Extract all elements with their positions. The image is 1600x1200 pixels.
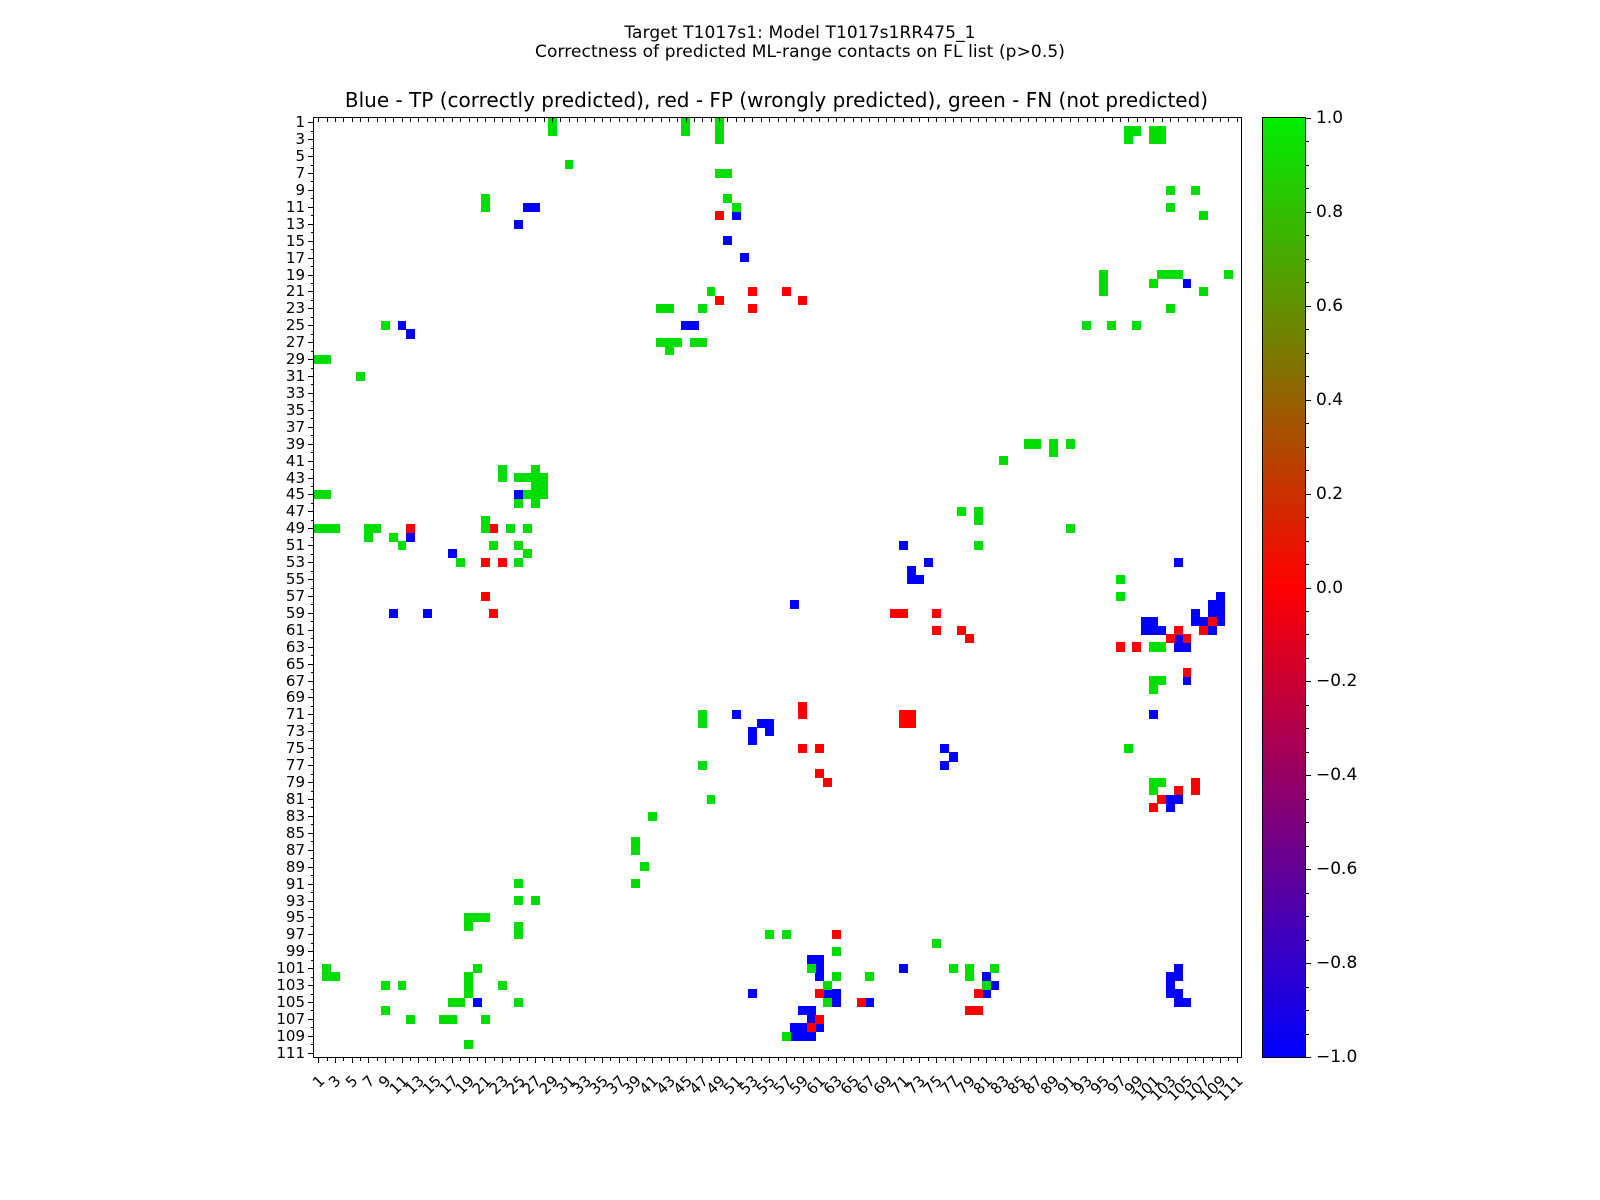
x-minor-tick	[794, 1057, 795, 1061]
axes-title-legend: Blue - TP (correctly predicted), red - F…	[313, 88, 1240, 112]
colorbar[interactable]: 1.00.80.60.40.20.0−0.2−0.4−0.6−0.8−1.0	[1262, 117, 1306, 1058]
y-minor-tick	[311, 351, 315, 352]
x-minor-tick	[1237, 1057, 1238, 1061]
colorbar-minor-tick	[1305, 775, 1309, 776]
x-top-minor-tick	[894, 118, 895, 122]
y-minor-tick	[311, 291, 315, 292]
contact-cell-tp	[982, 989, 991, 998]
contact-cell-fp	[815, 1015, 824, 1024]
y-minor-tick	[311, 520, 315, 521]
x-minor-tick	[961, 1057, 962, 1061]
contact-cell-tp	[865, 998, 874, 1007]
x-minor-tick	[1078, 1057, 1079, 1061]
y-minor-tick	[311, 173, 315, 174]
y-tick-label: 55	[286, 570, 305, 588]
y-minor-tick	[311, 571, 315, 572]
contact-cell-fn	[322, 490, 331, 499]
x-top-minor-tick	[794, 118, 795, 122]
y-minor-tick	[311, 621, 315, 622]
contact-cell-tp	[765, 727, 774, 736]
y-minor-tick	[311, 478, 315, 479]
colorbar-minor-tick	[1305, 987, 1309, 988]
colorbar-minor-tick	[1305, 165, 1309, 166]
x-top-minor-tick	[652, 118, 653, 122]
colorbar-minor-tick	[1305, 306, 1309, 307]
y-tick-label: 17	[286, 249, 305, 267]
contact-cell-fn	[865, 972, 874, 981]
y-minor-tick	[311, 308, 315, 309]
x-top-minor-tick	[919, 118, 920, 122]
colorbar-minor-tick	[1305, 376, 1309, 377]
colorbar-minor-tick	[1305, 658, 1309, 659]
contact-cell-fn	[1149, 786, 1158, 795]
contact-cell-tp	[899, 541, 908, 550]
contact-cell-fp	[489, 609, 498, 618]
y-tick-label: 81	[286, 790, 305, 808]
contact-cell-tp	[1183, 279, 1192, 288]
y-tick-label: 79	[286, 773, 305, 791]
x-minor-tick	[727, 1057, 728, 1061]
y-minor-tick	[311, 723, 315, 724]
x-minor-tick	[878, 1057, 879, 1061]
contact-cell-tp	[732, 710, 741, 719]
x-top-minor-tick	[819, 118, 820, 122]
y-minor-tick	[311, 156, 315, 157]
x-top-minor-tick	[694, 118, 695, 122]
x-minor-tick	[1095, 1057, 1096, 1061]
contact-cell-tp	[423, 609, 432, 618]
y-tick-label: 101	[276, 959, 305, 977]
x-minor-tick	[986, 1057, 987, 1061]
y-tick-label: 73	[286, 722, 305, 740]
colorbar-minor-tick	[1305, 447, 1309, 448]
y-tick-label: 13	[286, 215, 305, 233]
contact-cell-fn	[456, 998, 465, 1007]
y-tick-label: 23	[286, 299, 305, 317]
x-top-minor-tick	[978, 118, 979, 122]
contact-cell-fn	[381, 981, 390, 990]
contact-cell-fn	[707, 287, 716, 296]
x-top-minor-tick	[460, 118, 461, 122]
y-minor-tick	[311, 444, 315, 445]
x-minor-tick	[594, 1057, 595, 1061]
x-top-minor-tick	[936, 118, 937, 122]
y-minor-tick	[311, 232, 315, 233]
y-minor-tick	[311, 774, 315, 775]
contact-cell-tp	[473, 998, 482, 1007]
contact-cell-fn	[1199, 211, 1208, 220]
contact-cell-fp	[1208, 617, 1217, 626]
x-top-minor-tick	[452, 118, 453, 122]
colorbar-minor-tick	[1305, 705, 1309, 706]
contact-cell-fn	[481, 1015, 490, 1024]
contact-cell-fn	[514, 499, 523, 508]
contact-cell-fn	[1166, 203, 1175, 212]
contact-cell-tp	[815, 1023, 824, 1032]
contact-cell-fp	[974, 989, 983, 998]
contact-cell-fn	[648, 812, 657, 821]
x-minor-tick	[803, 1057, 804, 1061]
y-tick-label: 21	[286, 282, 305, 300]
contact-cell-tp	[1149, 710, 1158, 719]
contact-cell-fn	[715, 135, 724, 144]
x-top-minor-tick	[811, 118, 812, 122]
contact-cell-fn	[498, 473, 507, 482]
x-top-minor-tick	[1228, 118, 1229, 122]
x-minor-tick	[552, 1057, 553, 1061]
x-minor-tick	[995, 1057, 996, 1061]
y-tick-label: 103	[276, 976, 305, 994]
y-tick-label: 25	[286, 316, 305, 334]
y-minor-tick	[311, 1036, 315, 1037]
y-minor-tick	[311, 655, 315, 656]
x-minor-tick	[1203, 1057, 1204, 1061]
contact-cell-fn	[974, 541, 983, 550]
y-tick-label: 51	[286, 536, 305, 554]
colorbar-tick-label: −0.4	[1316, 765, 1357, 785]
x-minor-tick	[761, 1057, 762, 1061]
y-minor-tick	[311, 275, 315, 276]
x-top-minor-tick	[786, 118, 787, 122]
x-top-minor-tick	[1162, 118, 1163, 122]
y-tick-label: 29	[286, 350, 305, 368]
contact-cell-fp	[1157, 795, 1166, 804]
contact-cell-fn	[406, 1015, 415, 1024]
y-minor-tick	[311, 207, 315, 208]
contact-cell-fn	[356, 372, 365, 381]
contact-cell-tp	[1174, 795, 1183, 804]
y-minor-tick	[311, 1010, 315, 1011]
colorbar-tick-label: 0.6	[1316, 296, 1343, 316]
y-minor-tick	[311, 850, 315, 851]
x-top-minor-tick	[1003, 118, 1004, 122]
x-top-minor-tick	[686, 118, 687, 122]
x-top-minor-tick	[961, 118, 962, 122]
colorbar-minor-tick	[1305, 517, 1309, 518]
contact-cell-fp	[481, 592, 490, 601]
x-minor-tick	[585, 1057, 586, 1061]
y-minor-tick	[311, 122, 315, 123]
x-minor-tick	[410, 1057, 411, 1061]
x-top-minor-tick	[435, 118, 436, 122]
contact-cell-fn	[698, 338, 707, 347]
x-top-minor-tick	[1212, 118, 1213, 122]
y-minor-tick	[311, 604, 315, 605]
contact-cell-fn	[322, 355, 331, 364]
x-top-minor-tick	[585, 118, 586, 122]
contact-cell-fp	[1116, 642, 1125, 651]
y-minor-tick	[311, 943, 315, 944]
x-minor-tick	[778, 1057, 779, 1061]
y-minor-tick	[311, 148, 315, 149]
contact-cell-fn	[539, 490, 548, 499]
contact-cell-fn	[832, 972, 841, 981]
x-minor-tick	[636, 1057, 637, 1061]
contact-cell-fn	[398, 981, 407, 990]
contact-cell-fn	[514, 930, 523, 939]
contact-cell-fp	[406, 524, 415, 533]
x-top-minor-tick	[1078, 118, 1079, 122]
contact-cell-tp	[690, 321, 699, 330]
contact-cell-fn	[707, 795, 716, 804]
contact-cell-fn	[1066, 524, 1075, 533]
colorbar-tick-label: −1.0	[1316, 1047, 1357, 1067]
y-minor-tick	[311, 376, 315, 377]
x-minor-tick	[1195, 1057, 1196, 1061]
contact-cell-fn	[990, 964, 999, 973]
x-top-minor-tick	[602, 118, 603, 122]
contact-cell-tp	[915, 575, 924, 584]
x-top-minor-tick	[702, 118, 703, 122]
contact-cell-tp	[1183, 676, 1192, 685]
x-top-minor-tick	[1145, 118, 1146, 122]
colorbar-minor-tick	[1305, 259, 1309, 260]
contact-cell-fp	[798, 744, 807, 753]
y-tick-label: 3	[295, 130, 305, 148]
contact-cell-tp	[899, 964, 908, 973]
y-tick-label: 7	[295, 164, 305, 182]
contact-cell-fn	[1116, 575, 1125, 584]
colorbar-minor-tick	[1305, 141, 1309, 142]
x-minor-tick	[1070, 1057, 1071, 1061]
y-minor-tick	[311, 807, 315, 808]
colorbar-minor-tick	[1305, 728, 1309, 729]
x-minor-tick	[1220, 1057, 1221, 1061]
x-minor-tick	[1153, 1057, 1154, 1061]
x-top-minor-tick	[569, 118, 570, 122]
contact-cell-tp	[1216, 617, 1225, 626]
contact-cell-tp	[723, 236, 732, 245]
contact-cell-fn	[473, 964, 482, 973]
x-top-minor-tick	[886, 118, 887, 122]
x-top-minor-tick	[970, 118, 971, 122]
x-top-minor-tick	[836, 118, 837, 122]
y-minor-tick	[311, 528, 315, 529]
contact-cell-fn	[698, 719, 707, 728]
colorbar-minor-tick	[1305, 611, 1309, 612]
contact-cell-fn	[698, 304, 707, 313]
x-top-minor-tick	[945, 118, 946, 122]
contact-cell-fn	[331, 524, 340, 533]
y-minor-tick	[311, 181, 315, 182]
contact-cell-fn	[448, 1015, 457, 1024]
x-minor-tick	[1028, 1057, 1029, 1061]
x-minor-tick	[911, 1057, 912, 1061]
contact-cell-fn	[1174, 270, 1183, 279]
y-minor-tick	[311, 368, 315, 369]
colorbar-tick-label: −0.8	[1316, 953, 1357, 973]
y-tick-label: 37	[286, 418, 305, 436]
y-minor-tick	[311, 765, 315, 766]
x-minor-tick	[385, 1057, 386, 1061]
contact-cell-fp	[974, 1006, 983, 1015]
y-tick-label: 65	[286, 655, 305, 673]
x-top-minor-tick	[736, 118, 737, 122]
x-top-minor-tick	[552, 118, 553, 122]
x-top-minor-tick	[469, 118, 470, 122]
contact-cell-tp	[790, 600, 799, 609]
x-top-minor-tick	[853, 118, 854, 122]
y-minor-tick	[311, 258, 315, 259]
x-top-minor-tick	[427, 118, 428, 122]
x-minor-tick	[1170, 1057, 1171, 1061]
x-minor-tick	[811, 1057, 812, 1061]
contact-cell-fn	[1191, 186, 1200, 195]
contact-cell-fn	[531, 499, 540, 508]
y-minor-tick	[311, 384, 315, 385]
contact-map-cells	[314, 118, 1241, 1057]
y-minor-tick	[311, 951, 315, 952]
contact-cell-tp	[748, 736, 757, 745]
y-tick-label: 19	[286, 266, 305, 284]
x-minor-tick	[494, 1057, 495, 1061]
y-minor-tick	[311, 410, 315, 411]
x-top-minor-tick	[494, 118, 495, 122]
y-minor-tick	[311, 824, 315, 825]
x-top-minor-tick	[1095, 118, 1096, 122]
colorbar-minor-tick	[1305, 470, 1309, 471]
contact-cell-fn	[782, 930, 791, 939]
x-minor-tick	[377, 1057, 378, 1061]
y-tick-label: 9	[295, 181, 305, 199]
y-minor-tick	[311, 697, 315, 698]
colorbar-minor-tick	[1305, 588, 1309, 589]
x-top-minor-tick	[761, 118, 762, 122]
contact-cell-fp	[1191, 786, 1200, 795]
contact-cell-fn	[1224, 270, 1233, 279]
colorbar-gradient	[1263, 118, 1305, 1057]
contact-cell-fp	[782, 287, 791, 296]
y-tick-label: 87	[286, 841, 305, 859]
y-minor-tick	[311, 748, 315, 749]
x-minor-tick	[736, 1057, 737, 1061]
contact-cell-fp	[748, 304, 757, 313]
y-minor-tick	[311, 968, 315, 969]
x-minor-tick	[1187, 1057, 1188, 1061]
x-top-minor-tick	[627, 118, 628, 122]
y-minor-tick	[311, 960, 315, 961]
y-minor-tick	[311, 562, 315, 563]
y-minor-tick	[311, 841, 315, 842]
contact-cell-fn	[982, 981, 991, 990]
x-top-minor-tick	[360, 118, 361, 122]
contact-cell-fn	[456, 558, 465, 567]
y-minor-tick	[311, 1053, 315, 1054]
x-top-minor-tick	[352, 118, 353, 122]
contact-cell-fn	[464, 989, 473, 998]
contact-cell-tp	[990, 981, 999, 990]
x-minor-tick	[485, 1057, 486, 1061]
y-minor-tick	[311, 791, 315, 792]
x-minor-tick	[819, 1057, 820, 1061]
y-minor-tick	[311, 799, 315, 800]
x-minor-tick	[894, 1057, 895, 1061]
contact-cell-fn	[381, 1006, 390, 1015]
colorbar-tick-label: −0.2	[1316, 671, 1357, 691]
contact-cell-fp	[1149, 803, 1158, 812]
x-top-minor-tick	[661, 118, 662, 122]
y-minor-tick	[311, 1002, 315, 1003]
y-minor-tick	[311, 867, 315, 868]
x-top-minor-tick	[719, 118, 720, 122]
y-tick-label: 91	[286, 875, 305, 893]
contact-cell-fn	[681, 126, 690, 135]
contact-cell-fn	[1132, 321, 1141, 330]
y-tick-label: 97	[286, 925, 305, 943]
contact-cell-fp	[715, 296, 724, 305]
y-tick-label: 57	[286, 587, 305, 605]
y-tick-label: 53	[286, 553, 305, 571]
y-minor-tick	[311, 681, 315, 682]
contact-cell-fn	[481, 203, 490, 212]
y-minor-tick	[311, 909, 315, 910]
y-minor-tick	[311, 833, 315, 834]
x-minor-tick	[318, 1057, 319, 1061]
y-minor-tick	[311, 892, 315, 893]
contact-cell-fn	[1082, 321, 1091, 330]
contact-map-plot[interactable]: 1357911131517192123252729313335373941434…	[313, 117, 1242, 1058]
x-top-minor-tick	[644, 118, 645, 122]
contact-cell-fn	[1157, 135, 1166, 144]
contact-cell-fn	[506, 524, 515, 533]
contact-cell-tp	[1183, 998, 1192, 1007]
x-top-minor-tick	[752, 118, 753, 122]
x-minor-tick	[644, 1057, 645, 1061]
y-tick-label: 99	[286, 942, 305, 960]
contact-cell-tp	[514, 220, 523, 229]
contact-cell-fn	[1049, 439, 1058, 448]
x-top-minor-tick	[1011, 118, 1012, 122]
y-minor-tick	[311, 689, 315, 690]
contact-cell-fn	[565, 160, 574, 169]
contact-cell-tp	[1208, 626, 1217, 635]
y-minor-tick	[311, 588, 315, 589]
y-minor-tick	[311, 977, 315, 978]
colorbar-minor-tick	[1305, 822, 1309, 823]
y-tick-label: 63	[286, 638, 305, 656]
y-minor-tick	[311, 469, 315, 470]
y-tick-label: 33	[286, 384, 305, 402]
contact-cell-fn	[1166, 304, 1175, 313]
x-minor-tick	[953, 1057, 954, 1061]
contact-cell-fp	[932, 626, 941, 635]
x-top-minor-tick	[869, 118, 870, 122]
contact-cell-tp	[1174, 558, 1183, 567]
contact-cell-fn	[1099, 270, 1108, 279]
x-minor-tick	[477, 1057, 478, 1061]
contact-cell-fn	[1199, 287, 1208, 296]
contact-cell-fp	[715, 211, 724, 220]
x-minor-tick	[1128, 1057, 1129, 1061]
x-top-minor-tick	[1103, 118, 1104, 122]
x-minor-tick	[744, 1057, 745, 1061]
y-minor-tick	[311, 494, 315, 495]
x-minor-tick	[652, 1057, 653, 1061]
contact-cell-fn	[698, 761, 707, 770]
y-tick-label: 95	[286, 908, 305, 926]
contact-cell-fn	[514, 998, 523, 1007]
colorbar-minor-tick	[1305, 188, 1309, 189]
x-minor-tick	[786, 1057, 787, 1061]
contact-cell-fp	[932, 609, 941, 618]
colorbar-minor-tick	[1305, 1010, 1309, 1011]
x-top-minor-tick	[1053, 118, 1054, 122]
x-minor-tick	[844, 1057, 845, 1061]
y-minor-tick	[311, 985, 315, 986]
x-top-minor-tick	[1070, 118, 1071, 122]
x-minor-tick	[577, 1057, 578, 1061]
y-minor-tick	[311, 511, 315, 512]
